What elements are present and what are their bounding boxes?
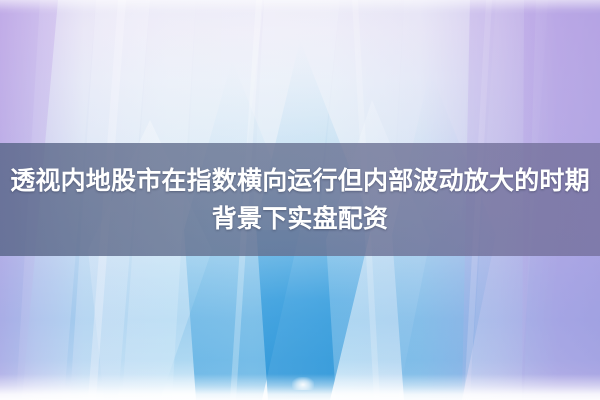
- title-band: 透视内地股市在指数横向运行但内部波动放大的时期背景下实盘配资: [0, 143, 600, 256]
- article-thumbnail-banner: 透视内地股市在指数横向运行但内部波动放大的时期背景下实盘配资: [0, 0, 600, 400]
- page-title: 透视内地股市在指数横向运行但内部波动放大的时期背景下实盘配资: [6, 162, 594, 238]
- bottom-haze-overlay: [0, 374, 600, 400]
- top-haze-overlay: [0, 0, 600, 14]
